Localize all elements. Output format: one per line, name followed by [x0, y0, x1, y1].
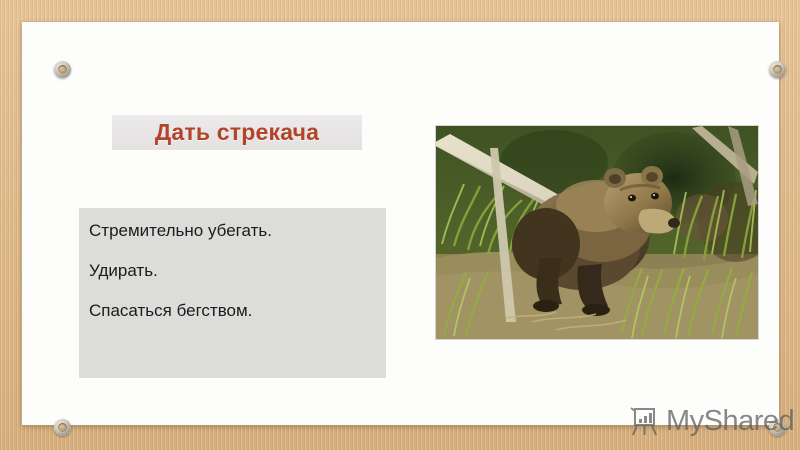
- slide-body-box: Стремительно убегать. Удирать. Спасаться…: [79, 208, 386, 378]
- presentation-easel-chart-icon: [628, 404, 662, 438]
- slide-panel: Дать стрекача Стремительно убегать. Удир…: [22, 22, 779, 425]
- body-line-3: Спасаться бегством.: [89, 302, 368, 320]
- body-line-2: Удирать.: [89, 262, 368, 280]
- body-line-1: Стремительно убегать.: [89, 222, 368, 240]
- screw-bottom-left: [54, 419, 71, 436]
- screw-top-right: [769, 61, 786, 78]
- bear-photo: [436, 126, 758, 339]
- watermark-label: MyShared: [666, 407, 794, 436]
- slide-title-box: Дать стрекача: [112, 115, 362, 150]
- slide-title: Дать стрекача: [155, 119, 319, 146]
- myshared-watermark: MyShared: [628, 401, 794, 441]
- screw-top-left: [54, 61, 71, 78]
